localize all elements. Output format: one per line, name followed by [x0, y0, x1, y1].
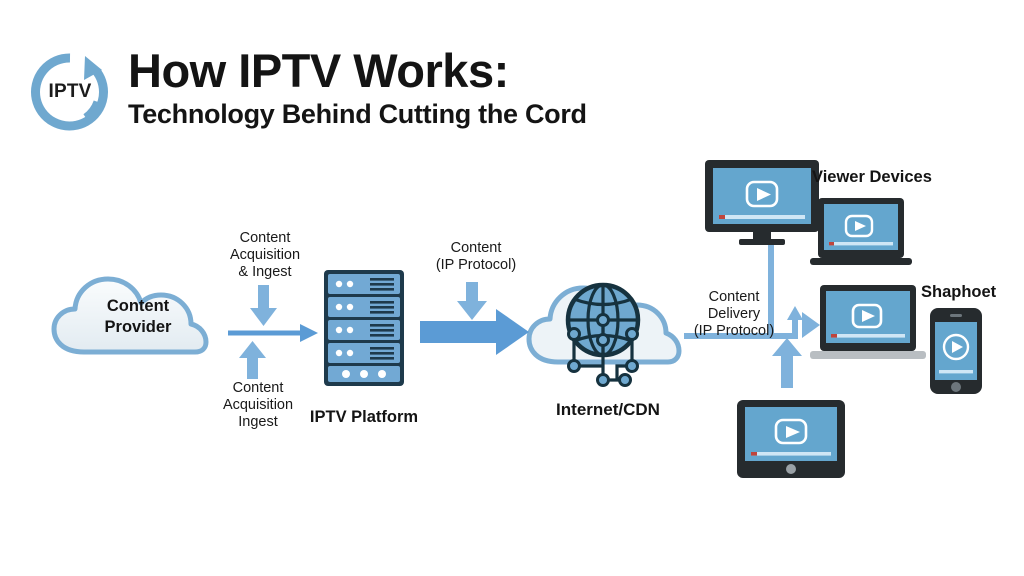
- internet-cdn-label: Internet/CDN: [528, 400, 688, 420]
- page-title: How IPTV Works:: [128, 47, 587, 95]
- flow-label-line: Delivery: [686, 306, 782, 323]
- flow-label-acquisition-top: Content Acquisition & Ingest: [205, 230, 325, 280]
- device-laptop-top: [810, 196, 912, 270]
- page-subtitle: Technology Behind Cutting the Cord: [128, 99, 587, 130]
- television-icon: [703, 158, 821, 248]
- flow-label-line: Acquisition: [205, 247, 325, 264]
- device-television: [703, 158, 821, 248]
- title-block: How IPTV Works: Technology Behind Cuttin…: [128, 47, 587, 130]
- flow-label-line: Content: [198, 380, 318, 397]
- flow-label-line: (IP Protocol): [686, 323, 782, 340]
- content-provider-label-line1: Content: [48, 296, 228, 317]
- cloud-globe-network-icon: [524, 258, 684, 398]
- down-arrow-icon-acquisition-top: [250, 285, 277, 326]
- laptop-icon: [810, 283, 926, 365]
- laptop-icon: [810, 196, 912, 270]
- flow-label-line: Content: [205, 230, 325, 247]
- device-smartphone: [928, 306, 984, 396]
- server-rack-icon: [322, 268, 406, 388]
- arrow-platform-to-cdn: [420, 309, 529, 355]
- flow-label-acquisition-bottom: Content Acquisition Ingest: [198, 380, 318, 430]
- logo-label: IPTV: [28, 50, 112, 134]
- internet-cdn-node: [524, 258, 684, 398]
- flow-label-line: & Ingest: [205, 264, 325, 281]
- device-tablet: [735, 398, 847, 480]
- flow-label-content-delivery: Content Delivery (IP Protocol): [686, 289, 782, 339]
- flow-label-line: (IP Protocol): [418, 257, 534, 274]
- content-provider-label-line2: Provider: [48, 317, 228, 338]
- down-arrow-icon-content-ip: [457, 282, 487, 320]
- content-provider-label: Content Provider: [48, 296, 228, 337]
- arrow-provider-to-platform: [228, 324, 318, 342]
- viewer-devices-label: Viewer Devices: [812, 168, 962, 187]
- flow-label-line: Ingest: [198, 414, 318, 431]
- smartphone-label: Shaphoet: [921, 283, 1024, 302]
- up-arrow-icon-acquisition-bottom: [239, 341, 266, 379]
- iptv-platform-node: [322, 268, 406, 388]
- smartphone-icon: [928, 306, 984, 396]
- device-laptop-bottom: [810, 283, 926, 365]
- iptv-logo: IPTV: [28, 50, 112, 134]
- tablet-icon: [735, 398, 847, 480]
- infographic-canvas: IPTV How IPTV Works: Technology Behind C…: [0, 0, 1024, 576]
- flow-label-line: Acquisition: [198, 397, 318, 414]
- flow-label-content-ip: Content (IP Protocol): [418, 240, 534, 274]
- flow-label-line: Content: [418, 240, 534, 257]
- flow-label-line: Content: [686, 289, 782, 306]
